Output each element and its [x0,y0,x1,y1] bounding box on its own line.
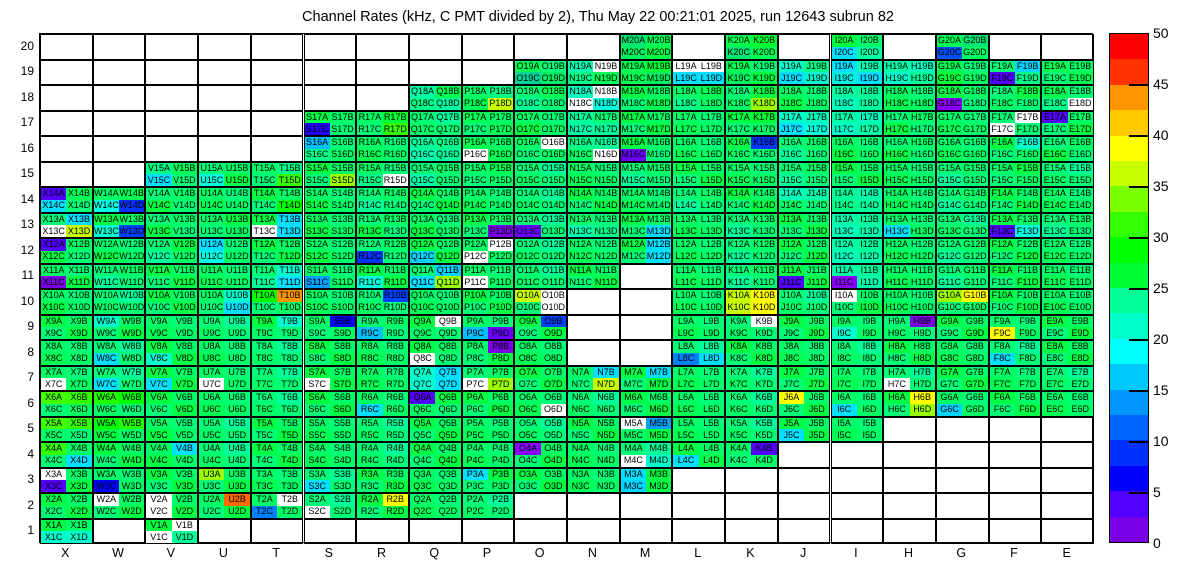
channel-H17C: H17C [884,123,909,135]
heatmap-tile-R17: R17AR17BR17CR17D [356,111,409,137]
heatmap-tile-M18: M18AM18BM18CM18D [620,85,673,111]
heatmap-tile-J14: J14AJ14BJ14CJ14D [778,187,831,213]
channel-K5D: K5D [751,429,776,441]
channel-V12D: V12D [172,251,197,263]
channel-O9D: O9D [541,327,566,339]
channel-E15B: E15B [1068,163,1093,175]
channel-W11B: W11B [119,265,144,277]
channel-R17B: R17B [383,112,408,124]
channel-L19C: L19C [673,72,698,84]
channel-W6C: W6C [94,404,119,416]
heatmap-tile-F10: F10AF10BF10CF10D [989,289,1042,315]
heatmap-tile-P18: P18AP18BP18CP18D [462,85,515,111]
channel-E8C: E8C [1042,353,1067,365]
channel-L14D: L14D [699,200,724,212]
colorbar-tick-mark-25 [1129,288,1149,290]
heatmap-tile-R14: R14AR14BR14CR14D [356,187,409,213]
channel-X2C: X2C [41,506,66,518]
channel-M13B: M13B [646,214,671,226]
channel-V7D: V7D [172,378,197,390]
channel-G12D: G12D [962,251,987,263]
heatmap-tile-J5: J5AJ5BJ5CJ5D [778,417,831,443]
channel-L8B: L8B [699,341,724,353]
channel-W5C: W5C [94,429,119,441]
channel-V11A: V11A [146,265,171,277]
channel-N11D: N11D [593,276,618,288]
channel-R6C: R6C [357,404,382,416]
channel-V2D: V2D [172,506,197,518]
channel-S13C: S13C [305,225,330,237]
channel-W9D: W9D [119,327,144,339]
heatmap-tile-W6: W6AW6BW6CW6D [93,391,146,417]
y-axis: 2019181716151413121110987654321 [0,33,34,543]
heatmap-tile-X4: X4AX4BX4CX4D [40,442,93,468]
channel-Q18A: Q18A [410,86,435,98]
heatmap-tile-E1 [1041,519,1094,545]
heatmap-tile-F13: F13AF13BF13CF13D [989,213,1042,239]
channel-O13A: O13A [515,214,540,226]
heatmap-tile-G13: G13AG13BG13CG13D [936,213,989,239]
heatmap-tile-L18: L18AL18BL18CL18D [672,85,725,111]
channel-T13D: T13D [277,225,302,237]
channel-R13A: R13A [357,214,382,226]
heatmap-tile-X19 [40,60,93,86]
channel-K19D: K19D [751,72,776,84]
channel-Q5C: Q5C [410,429,435,441]
channel-J10A: J10A [779,290,804,302]
heatmap-tile-J16: J16AJ16BJ16CJ16D [778,136,831,162]
heatmap-tile-Q12: Q12AQ12BQ12CQ12D [409,238,462,264]
heatmap-tile-F5 [989,417,1042,443]
heatmap-tile-G10: G10AG10BG10CG10D [936,289,989,315]
colorbar-tick-label-45: 45 [1153,76,1169,92]
channel-G6B: G6B [962,392,987,404]
heatmap-tile-L3 [672,468,725,494]
channel-M19B: M19B [646,61,671,73]
heatmap-tile-P11: P11AP11BP11CP11D [462,264,515,290]
channel-K14C: K14C [726,200,751,212]
channel-F13C: F13C [990,225,1015,237]
channel-V15C: V15C [146,174,171,186]
channel-G11D: G11D [962,276,987,288]
channel-P12A: P12A [463,239,488,251]
heatmap-tile-S4: S4AS4BS4CS4D [304,442,357,468]
channel-U12C: U12C [199,251,224,263]
heatmap-tile-J18: J18AJ18BJ18CJ18D [778,85,831,111]
channel-G13A: G13A [937,214,962,226]
channel-E19A: E19A [1042,61,1067,73]
channel-L6C: L6C [673,404,698,416]
channel-Q9A: Q9A [410,316,435,328]
channel-F13B: F13B [1015,214,1040,226]
channel-X3C: X3C [41,480,66,492]
channel-I13A: I13A [832,214,857,226]
channel-R11C: R11C [357,276,382,288]
heatmap-tile-L17: L17AL17BL17CL17D [672,111,725,137]
channel-E14B: E14B [1068,188,1093,200]
channel-M7A: M7A [621,367,646,379]
channel-I8A: I8A [832,341,857,353]
channel-Q7C: Q7C [410,378,435,390]
heatmap-tile-N6: N6AN6BN6CN6D [567,391,620,417]
channel-Q2D: Q2D [435,506,460,518]
channel-L6A: L6A [673,392,698,404]
channel-X10A: X10A [41,290,66,302]
heatmap-tile-V15: V15AV15BV15CV15D [145,162,198,188]
channel-R17A: R17A [357,112,382,124]
heatmap-tile-M2 [620,493,673,519]
channel-I6C: I6C [832,404,857,416]
channel-L9D: L9D [699,327,724,339]
channel-N17C: N17C [568,123,593,135]
x-axis-tick-X: X [45,546,85,560]
channel-P14C: P14C [463,200,488,212]
heatmap-tile-T3: T3AT3BT3CT3D [251,468,304,494]
channel-R10D: R10D [383,302,408,314]
channel-M12A: M12A [621,239,646,251]
channel-X4A: X4A [41,443,66,455]
heatmap-tile-L13: L13AL13BL13CL13D [672,213,725,239]
channel-V5D: V5D [172,429,197,441]
channel-U2D: U2D [224,506,249,518]
channel-M19C: M19C [621,72,646,84]
heatmap-tile-Q18: Q18AQ18BQ18CQ18D [409,85,462,111]
channel-E19C: E19C [1042,72,1067,84]
channel-O4C: O4C [515,455,540,467]
colorbar-tick-mark-30 [1129,237,1149,239]
colorbar-tick-mark-20 [1129,339,1149,341]
channel-K6B: K6B [751,392,776,404]
channel-L5C: L5C [673,429,698,441]
channel-J9C: J9C [779,327,804,339]
channel-T2A: T2A [252,494,277,506]
channel-L12D: L12D [699,251,724,263]
channel-L16B: L16B [699,137,724,149]
channel-R14B: R14B [383,188,408,200]
channel-K8B: K8B [751,341,776,353]
y-axis-tick-9: 9 [2,319,34,333]
heatmap-tile-G3 [936,468,989,494]
channel-P2A: P2A [463,494,488,506]
channel-M17B: M17B [646,112,671,124]
channel-P17D: P17D [488,123,513,135]
channel-N4C: N4C [568,455,593,467]
heatmap-tile-F12: F12AF12BF12CF12D [989,238,1042,264]
channel-J13B: J13B [804,214,829,226]
channel-H6A: H6A [884,392,909,404]
channel-K8D: K8D [751,353,776,365]
channel-P7B: P7B [488,367,513,379]
channel-R4C: R4C [357,455,382,467]
channel-T3C: T3C [252,480,277,492]
x-axis-tick-N: N [572,546,612,560]
y-axis-tick-12: 12 [2,243,34,257]
heatmap-tile-S8: S8AS8BS8CS8D [304,340,357,366]
heatmap-tile-V6: V6AV6BV6CV6D [145,391,198,417]
heatmap-tile-R5: R5AR5BR5CR5D [356,417,409,443]
channel-M14B: M14B [646,188,671,200]
channel-Q2A: Q2A [410,494,435,506]
channel-M3B: M3B [646,469,671,481]
channel-R10A: R10A [357,290,382,302]
channel-R6D: R6D [383,404,408,416]
colorbar-tick-label-15: 15 [1153,382,1169,398]
heatmap-tile-M17: M17AM17BM17CM17D [620,111,673,137]
heatmap-tile-G17: G17AG17BG17CG17D [936,111,989,137]
channel-G16B: G16B [962,137,987,149]
heatmap-tile-P14: P14AP14BP14CP14D [462,187,515,213]
channel-O10A: O10A [515,290,540,302]
channel-G11A: G11A [937,265,962,277]
channel-F19A: F19A [990,61,1015,73]
x-axis-tick-S: S [309,546,349,560]
channel-O5A: O5A [515,418,540,430]
heatmap-tile-Q11: Q11AQ11BQ11CQ11D [409,264,462,290]
channel-M5C: M5C [621,429,646,441]
channel-P4D: P4D [488,455,513,467]
channel-K7C: K7C [726,378,751,390]
channel-S2B: S2B [330,494,355,506]
channel-I10D: I10D [857,302,882,314]
channel-W13B: W13B [119,214,144,226]
channel-P10B: P10B [488,290,513,302]
channel-G18C: G18C [937,98,962,110]
channel-Q13B: Q13B [435,214,460,226]
channel-H7A: H7A [884,367,909,379]
channel-L11B: L11B [699,265,724,277]
channel-R2D: R2D [383,506,408,518]
channel-G8B: G8B [962,341,987,353]
channel-O7A: O7A [515,367,540,379]
heatmap-tile-U10: U10AU10BU10CU10D [198,289,251,315]
channel-P11C: P11C [463,276,488,288]
channel-W7D: W7D [119,378,144,390]
channel-O13D: O13D [541,225,566,237]
channel-R15A: R15A [357,163,382,175]
channel-T8C: T8C [252,353,277,365]
channel-V2A: V2A [146,494,171,506]
channel-H18A: H18A [884,86,909,98]
channel-M14A: M14A [621,188,646,200]
channel-N16D: N16D [593,149,618,161]
channel-X14B: X14B [66,188,91,200]
channel-N14D: N14D [593,200,618,212]
channel-R4A: R4A [357,443,382,455]
channel-T2C: T2C [252,506,277,518]
channel-S15B: S15B [330,163,355,175]
channel-N13D: N13D [593,225,618,237]
colorbar-tick-label-50: 50 [1153,25,1169,41]
x-axis-tick-L: L [678,546,718,560]
channel-F14D: F14D [1015,200,1040,212]
heatmap-tile-O8: O8AO8BO8CO8D [514,340,567,366]
heatmap-tile-Q4: Q4AQ4BQ4CQ4D [409,442,462,468]
channel-J17B: J17B [804,112,829,124]
channel-L5A: L5A [673,418,698,430]
channel-J17A: J17A [779,112,804,124]
channel-E9B: E9B [1068,316,1093,328]
heatmap-tile-R3: R3AR3BR3CR3D [356,468,409,494]
channel-O6D: O6D [541,404,566,416]
plot-title: Channel Rates (kHz, C PMT divided by 2),… [0,9,1196,25]
channel-Q17B: Q17B [435,112,460,124]
heatmap-tile-K10: K10AK10BK10CK10D [725,289,778,315]
channel-Q9D: Q9D [435,327,460,339]
heatmap-tile-K6: K6AK6BK6CK6D [725,391,778,417]
heatmap-tile-G15: G15AG15BG15CG15D [936,162,989,188]
channel-S11D: S11D [330,276,355,288]
heatmap-tile-M14: M14AM14BM14CM14D [620,187,673,213]
channel-Q4A: Q4A [410,443,435,455]
colorbar-tick-mark-45 [1129,84,1149,86]
heatmap-tile-R4: R4AR4BR4CR4D [356,442,409,468]
channel-N6A: N6A [568,392,593,404]
channel-K20D: K20D [751,47,776,59]
channel-O10B: O10B [541,290,566,302]
channel-M12B: M12B [646,239,671,251]
channel-U6B: U6B [224,392,249,404]
heatmap-tile-N18: N18AN18BN18CN18D [567,85,620,111]
heatmap-tile-R6: R6AR6BR6CR6D [356,391,409,417]
channel-Q4D: Q4D [435,455,460,467]
channel-W13A: W13A [94,214,119,226]
channel-J6D: J6D [804,404,829,416]
channel-F11A: F11A [990,265,1015,277]
channel-I18B: I18B [857,86,882,98]
channel-R16C: R16C [357,149,382,161]
channel-W8C: W8C [94,353,119,365]
channel-T7B: T7B [277,367,302,379]
channel-U5D: U5D [224,429,249,441]
heatmap-tile-L7: L7AL7BL7CL7D [672,366,725,392]
channel-N7A: N7A [568,367,593,379]
heatmap-tile-M3: M3AM3BM3CM3D [620,468,673,494]
channel-F12A: F12A [990,239,1015,251]
channel-U8D: U8D [224,353,249,365]
channel-O12C: O12C [515,251,540,263]
heatmap-tile-S20 [304,34,357,60]
heatmap-tile-P3: P3AP3BP3CP3D [462,468,515,494]
x-axis-tick-F: F [994,546,1034,560]
channel-E8D: E8D [1068,353,1093,365]
channel-L8C: L8C [673,353,698,365]
channel-S3B: S3B [330,469,355,481]
heatmap-tile-I6: I6AI6BI6CI6D [831,391,884,417]
channel-L9B: L9B [699,316,724,328]
channel-Q5D: Q5D [435,429,460,441]
channel-O18A: O18A [515,86,540,98]
heatmap-tile-N3: N3AN3BN3CN3D [567,468,620,494]
channel-W3B: W3B [119,469,144,481]
channel-S6D: S6D [330,404,355,416]
heatmap-tile-K17: K17AK17BK17CK17D [725,111,778,137]
channel-P16A: P16A [463,137,488,149]
channel-R5A: R5A [357,418,382,430]
channel-Q4B: Q4B [435,443,460,455]
channel-E11D: E11D [1068,276,1093,288]
channel-Q7D: Q7D [435,378,460,390]
heatmap-tile-K15: K15AK15BK15CK15D [725,162,778,188]
channel-S12D: S12D [330,251,355,263]
heatmap-tile-S9: S9AS9BS9CS9D [304,315,357,341]
heatmap-tile-P1 [462,519,515,545]
channel-X11C: X11C [41,276,66,288]
channel-G19A: G19A [937,61,962,73]
channel-J19D: J19D [804,72,829,84]
heatmap-tile-M7: M7AM7BM7CM7D [620,366,673,392]
channel-F11B: F11B [1015,265,1040,277]
channel-I12A: I12A [832,239,857,251]
channel-K20A: K20A [726,35,751,47]
channel-F9D: F9D [1015,327,1040,339]
heatmap-tile-U3: U3AU3BU3CU3D [198,468,251,494]
heatmap-tile-L15: L15AL15BL15CL15D [672,162,725,188]
channel-X12A: X12A [41,239,66,251]
channel-R10B: R10B [383,290,408,302]
channel-G7B: G7B [962,367,987,379]
heatmap-tile-J20 [778,34,831,60]
channel-P13D: P13D [488,225,513,237]
channel-L17C: L17C [673,123,698,135]
channel-T7D: T7D [277,378,302,390]
channel-O14A: O14A [515,188,540,200]
heatmap-tile-J9: J9AJ9BJ9CJ9D [778,315,831,341]
heatmap-tile-V12: V12AV12BV12CV12D [145,238,198,264]
heatmap-tile-V13: V13AV13BV13CV13D [145,213,198,239]
channel-H10A: H10A [884,290,909,302]
channel-I20D: I20D [857,47,882,59]
heatmap-tile-W1 [93,519,146,545]
heatmap-tile-U16 [198,136,251,162]
channel-R12D: R12D [383,251,408,263]
channel-S12A: S12A [305,239,330,251]
channel-R3C: R3C [357,480,382,492]
channel-L5B: L5B [699,418,724,430]
channel-J19B: J19B [804,61,829,73]
channel-Q15B: Q15B [435,163,460,175]
channel-I17D: I17D [857,123,882,135]
heatmap-tile-Q1 [409,519,462,545]
channel-U2A: U2A [199,494,224,506]
heatmap-tile-V20 [145,34,198,60]
channel-H6D: H6D [910,404,935,416]
heatmap-tile-Q2: Q2AQ2BQ2CQ2D [409,493,462,519]
channel-G15B: G15B [962,163,987,175]
channel-M3A: M3A [621,469,646,481]
channel-R7A: R7A [357,367,382,379]
heatmap-tile-I20: I20AI20BI20CI20D [831,34,884,60]
heatmap-tile-K19: K19AK19BK19CK19D [725,60,778,86]
channel-K19C: K19C [726,72,751,84]
channel-E14C: E14C [1042,200,1067,212]
channel-M4D: M4D [646,455,671,467]
channel-H8D: H8D [910,353,935,365]
heatmap-tile-L16: L16AL16BL16CL16D [672,136,725,162]
channel-F7A: F7A [990,367,1015,379]
heatmap-tile-U4: U4AU4BU4CU4D [198,442,251,468]
channel-G16A: G16A [937,137,962,149]
channel-U15A: U15A [199,163,224,175]
channel-U10C: U10C [199,302,224,314]
channel-H13B: H13B [910,214,935,226]
channel-O16C: O16C [515,149,540,161]
channel-Q2C: Q2C [410,506,435,518]
channel-T4A: T4A [252,443,277,455]
channel-O7D: O7D [541,378,566,390]
heatmap-tile-G7: G7AG7BG7CG7D [936,366,989,392]
channel-V13B: V13B [172,214,197,226]
channel-E13B: E13B [1068,214,1093,226]
